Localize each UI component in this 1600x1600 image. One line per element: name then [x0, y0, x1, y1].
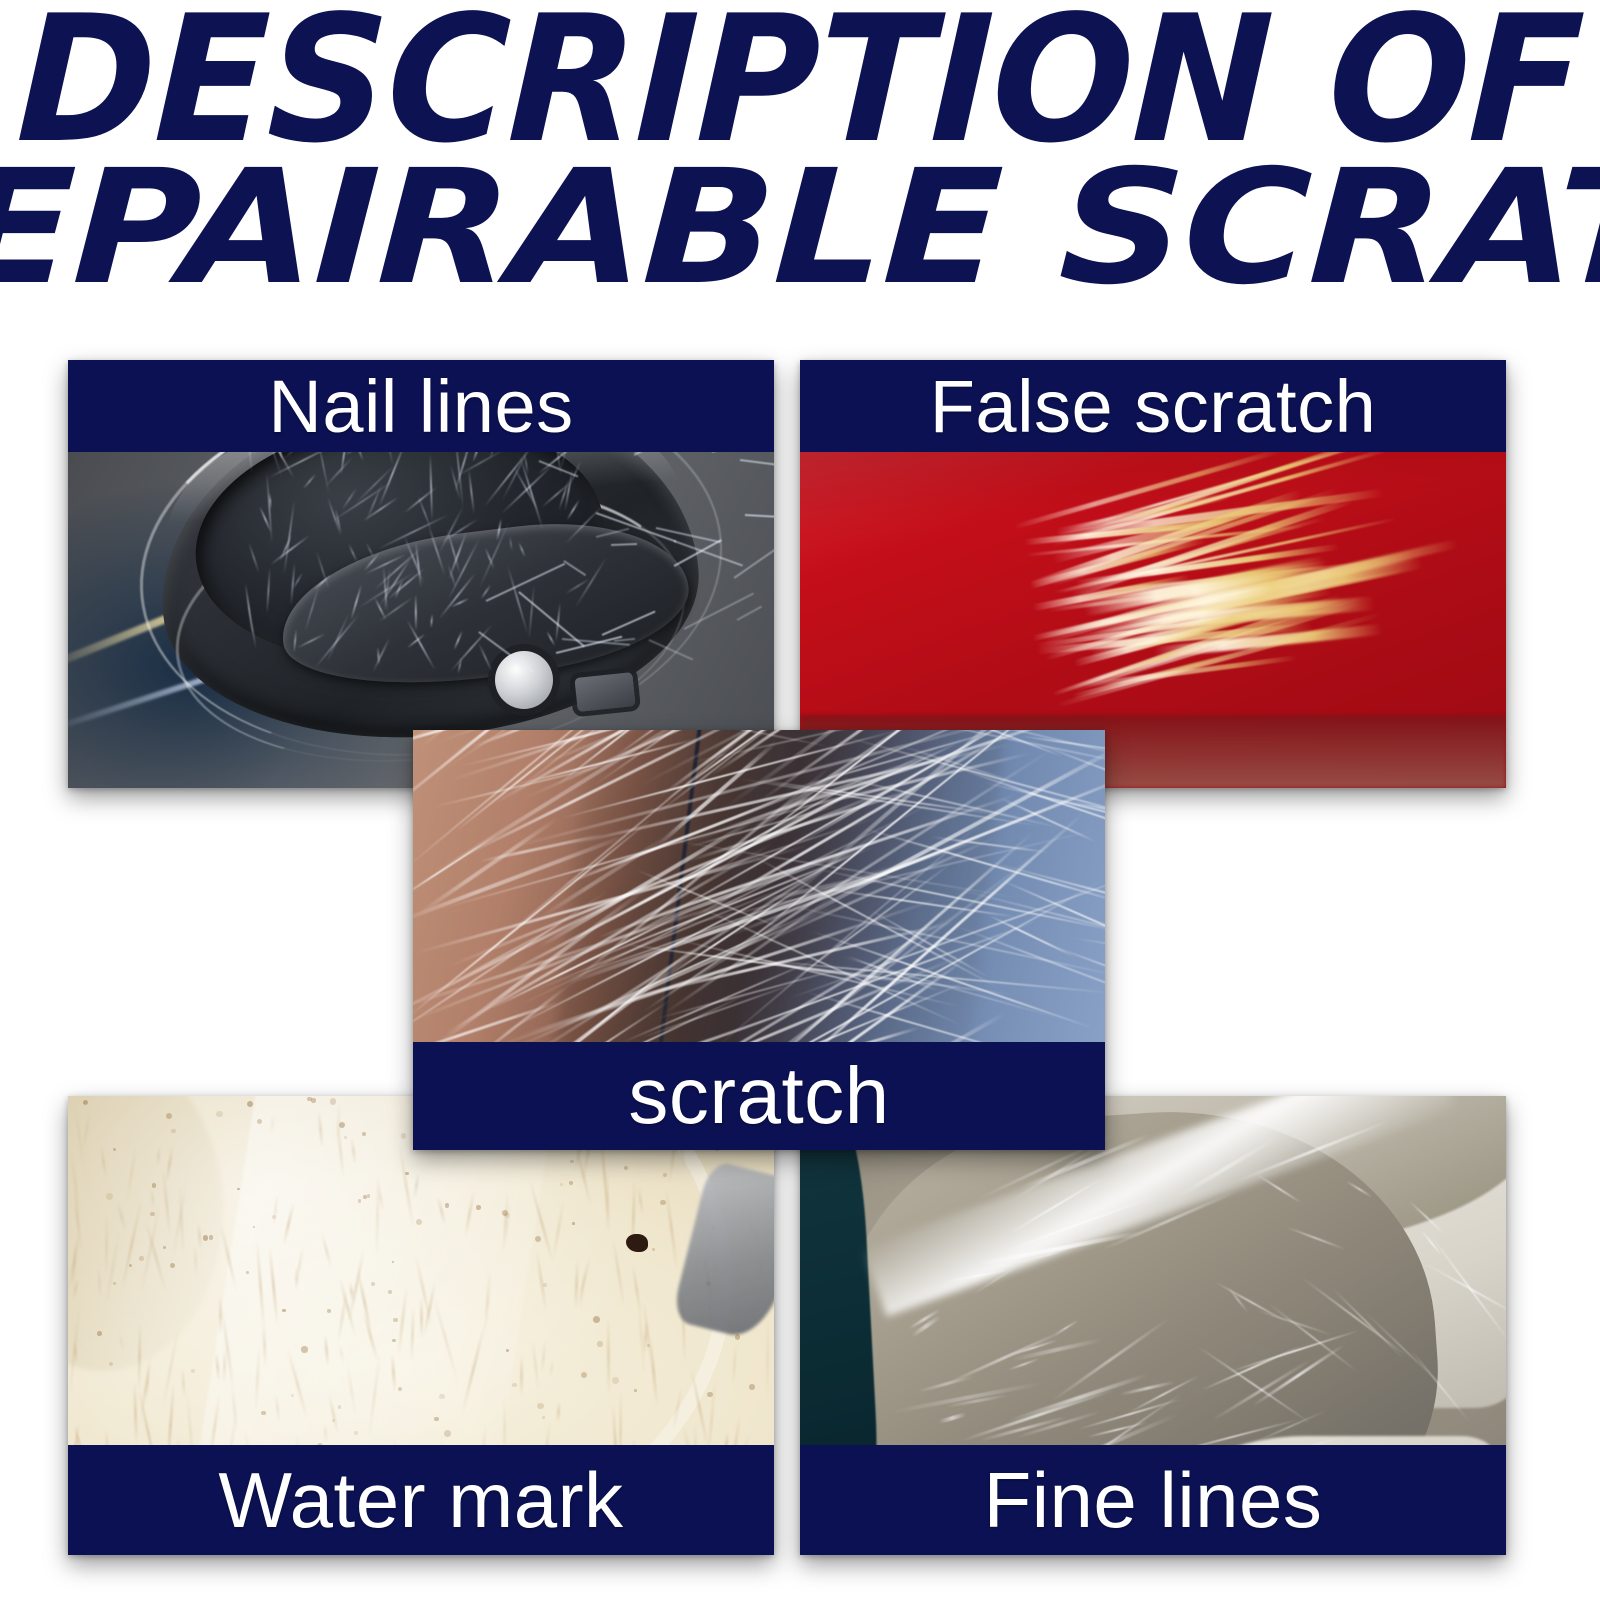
card-false-scratch[interactable]: False scratch [800, 360, 1506, 788]
door-lock-button [495, 651, 553, 709]
card-label-fine-lines: Fine lines [800, 1445, 1506, 1555]
card-label-text: Fine lines [984, 1455, 1323, 1546]
card-label-text: Nail lines [268, 364, 573, 449]
card-label-scratch: scratch [413, 1042, 1105, 1150]
card-label-text: False scratch [930, 364, 1377, 449]
card-scratch[interactable]: scratch [413, 730, 1105, 1150]
title-line-1: DESCRIPTION OF [0, 6, 1600, 157]
card-label-water-mark: Water mark [68, 1445, 774, 1555]
card-label-text: scratch [628, 1050, 889, 1142]
card-label-nail-lines: Nail lines [68, 360, 774, 452]
card-label-false-scratch: False scratch [800, 360, 1506, 452]
card-nail-lines[interactable]: Nail lines [68, 360, 774, 788]
title-line-2: REPAIRABLE SCRATCHES [0, 161, 1600, 297]
card-label-text: Water mark [218, 1455, 623, 1546]
page-title: DESCRIPTION OF REPAIRABLE SCRATCHES [0, 6, 1600, 296]
card-fine-lines[interactable]: Fine lines [800, 1096, 1506, 1555]
card-water-mark[interactable]: Water mark [68, 1096, 774, 1555]
infographic-canvas: DESCRIPTION OF REPAIRABLE SCRATCHES Nail… [0, 0, 1600, 1600]
keyless-sensor-pad [575, 672, 636, 712]
dark-chip-spot [626, 1234, 648, 1252]
